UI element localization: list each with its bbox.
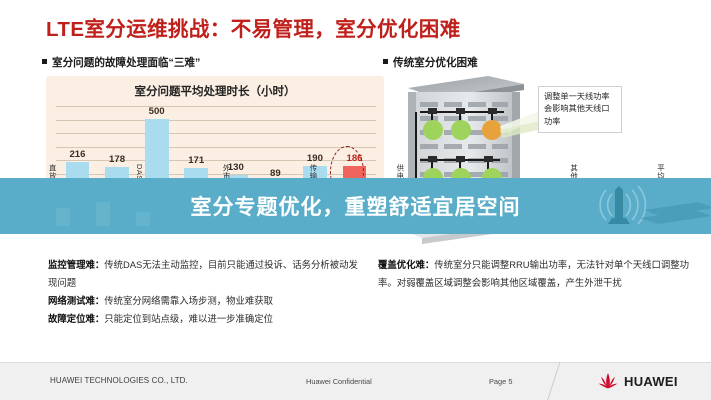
chart-title: 室分问题平均处理时长（小时）	[46, 83, 384, 99]
challenge-description: 只能定位到站点级，难以进一步准确定位	[104, 313, 273, 324]
square-bullet-icon	[383, 59, 388, 64]
footer-divider	[547, 362, 561, 400]
antenna-node-icon	[451, 120, 471, 140]
antenna-node-highlight-icon	[482, 120, 502, 140]
overlay-banner: 室分专题优化，重塑舒适宜居空间	[0, 178, 711, 234]
left-challenges-list: 监控管理难：传统DAS无法主动监控，目前只能通过投诉、话务分析被动发现问题网络测…	[48, 256, 366, 328]
challenge-label: 覆盖优化难：	[378, 259, 434, 270]
banner-title: 室分专题优化，重塑舒适宜居空间	[0, 191, 711, 221]
bar-value-label: 500	[149, 106, 165, 117]
challenge-item: 覆盖优化难：传统室分只能调整RRU输出功率，无法针对单个天线口调整功率。对弱覆盖…	[378, 256, 698, 292]
slide-canvas: LTE室分运维挑战：不易管理，室分优化困难 室分问题的故障处理面临“三难” 传统…	[0, 0, 711, 400]
square-bullet-icon	[42, 59, 47, 64]
challenge-item: 网络测试难：传统室分网络需靠入场步测，物业难获取	[48, 292, 366, 310]
slide-footer: HUAWEI TECHNOLOGIES CO., LTD. Huawei Con…	[0, 362, 711, 400]
bar-value-label: 186	[347, 153, 363, 164]
challenge-description: 传统室分网络需靠入场步测，物业难获取	[104, 295, 273, 306]
subheading-left: 室分问题的故障处理面临“三难”	[42, 55, 200, 70]
challenge-label: 故障定位难：	[48, 313, 104, 324]
subheading-right: 传统室分优化困难	[383, 55, 478, 70]
callout-box: 调整单一天线功率会影响其他天线口功率	[538, 86, 622, 133]
challenge-label: 监控管理难：	[48, 259, 104, 270]
challenge-item: 故障定位难：只能定位到站点级，难以进一步准确定位	[48, 310, 366, 328]
bar-value-label: 216	[69, 149, 85, 160]
challenge-label: 网络测试难：	[48, 295, 104, 306]
page-title: LTE室分运维挑战：不易管理，室分优化困难	[46, 12, 461, 42]
footer-confidential: Huawei Confidential	[306, 377, 372, 386]
subheading-left-label: 室分问题的故障处理面临“三难”	[52, 57, 200, 69]
huawei-wordmark: HUAWEI	[624, 374, 678, 389]
footer-company: HUAWEI TECHNOLOGIES CO., LTD.	[50, 376, 188, 385]
footer-page-number: Page 5	[489, 377, 512, 386]
bar-value-label: 190	[307, 153, 323, 164]
huawei-logo: HUAWEI	[597, 372, 678, 390]
right-challenges-list: 覆盖优化难：传统室分只能调整RRU输出功率，无法针对单个天线口调整功率。对弱覆盖…	[378, 256, 698, 292]
challenge-item: 监控管理难：传统DAS无法主动监控，目前只能通过投诉、话务分析被动发现问题	[48, 256, 366, 292]
huawei-flower-icon	[597, 372, 619, 390]
antenna-node-icon	[423, 120, 443, 140]
subheading-right-label: 传统室分优化困难	[393, 57, 478, 69]
